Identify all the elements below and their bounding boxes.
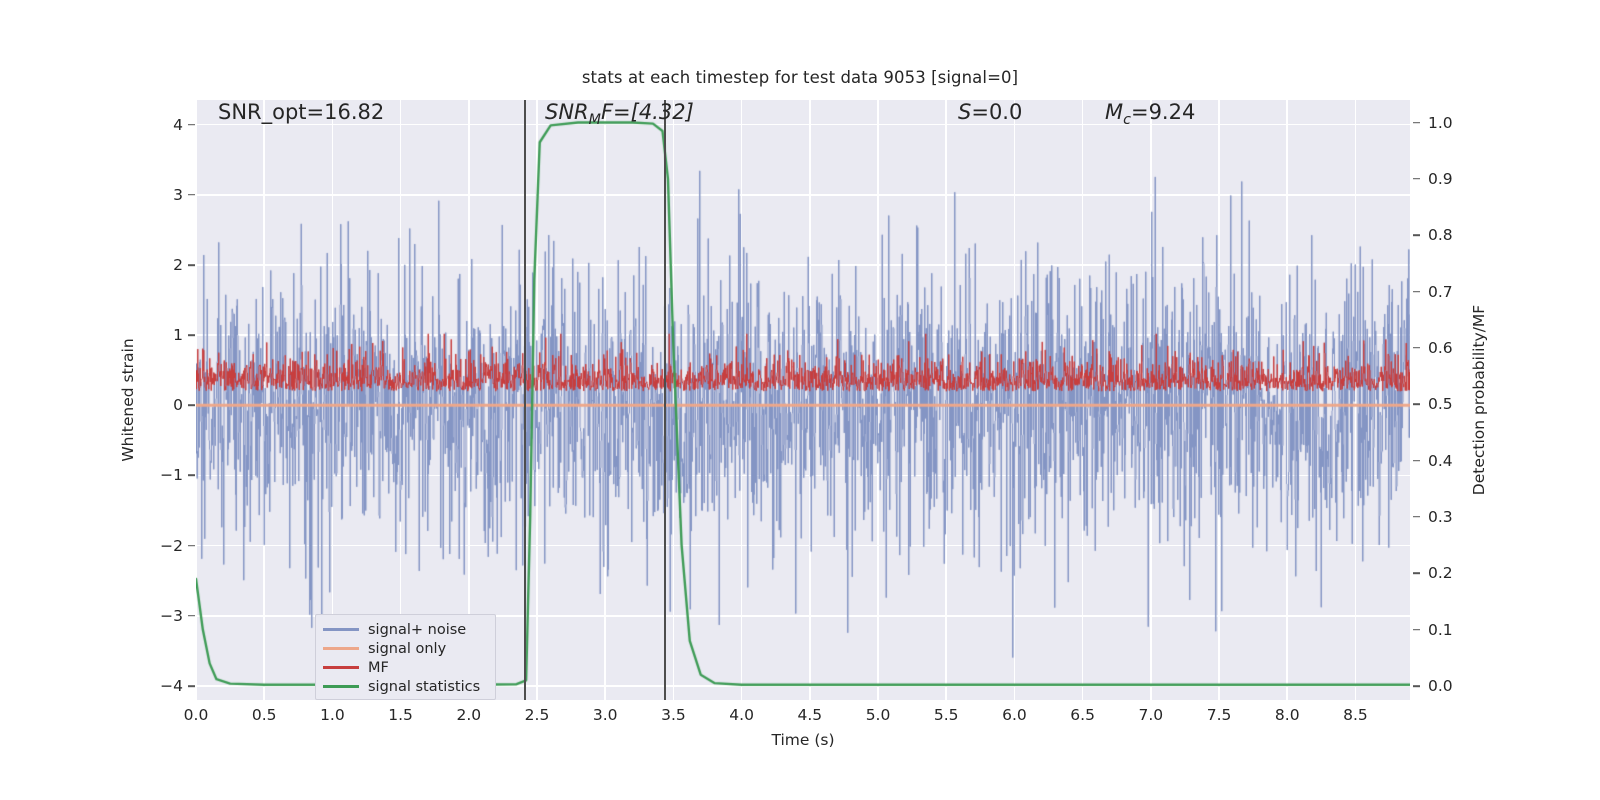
legend-item-label: signal only xyxy=(368,641,446,657)
y-axis-tick-label-right: 0.8 xyxy=(1428,226,1453,244)
y-axis-tick-label-right: 0.1 xyxy=(1428,621,1453,639)
legend-item-label: signal+ noise xyxy=(368,622,466,638)
y-axis-tick-mark-right xyxy=(1413,291,1420,293)
legend-swatch xyxy=(323,628,359,631)
x-axis-tick-label: 7.5 xyxy=(1207,706,1232,724)
y-axis-tick-mark-left xyxy=(188,124,195,126)
y-axis-tick-label-left: −1 xyxy=(160,466,183,484)
y-axis-tick-label-left: 0 xyxy=(173,396,183,414)
x-axis-tick-label: 2.0 xyxy=(456,706,481,724)
y-axis-tick-label-left: 3 xyxy=(173,186,183,204)
x-axis-tick-label: 5.5 xyxy=(934,706,959,724)
y-axis-tick-label-right: 0.7 xyxy=(1428,283,1453,301)
y-axis-tick-mark-left xyxy=(188,475,195,477)
annotation-mc-value: =9.24 xyxy=(1131,100,1195,124)
y-axis-tick-mark-right xyxy=(1413,178,1420,180)
y-axis-label-right: Detection probability/MF xyxy=(1470,305,1488,495)
y-axis-tick-label-left: 2 xyxy=(173,256,183,274)
y-axis-tick-label-right: 0.5 xyxy=(1428,395,1453,413)
x-axis-tick-label: 3.0 xyxy=(593,706,618,724)
y-axis-tick-mark-left xyxy=(188,264,195,266)
x-axis-tick-label: 7.0 xyxy=(1139,706,1164,724)
y-axis-tick-mark-right xyxy=(1413,572,1420,574)
legend-swatch xyxy=(323,685,359,688)
x-axis-tick-label: 0.5 xyxy=(252,706,277,724)
y-axis-tick-mark-left xyxy=(188,685,195,687)
legend-item[interactable]: MF xyxy=(323,658,487,677)
y-axis-tick-mark-right xyxy=(1413,347,1420,349)
y-axis-tick-label-left: −3 xyxy=(160,607,183,625)
legend-item[interactable]: signal statistics xyxy=(323,677,487,696)
y-axis-tick-label-right: 1.0 xyxy=(1428,114,1453,132)
vertical-marker-layer xyxy=(196,100,1410,700)
y-axis-tick-mark-right xyxy=(1413,460,1420,462)
legend-item-label: MF xyxy=(368,660,389,676)
y-axis-tick-mark-left xyxy=(188,404,195,406)
vertical-marker-line xyxy=(524,100,526,700)
figure: stats at each timestep for test data 905… xyxy=(0,0,1600,800)
y-axis-tick-label-right: 0.9 xyxy=(1428,170,1453,188)
annotation-mc-symbol: M xyxy=(1105,100,1123,124)
annotation-snr-opt: SNR_opt=16.82 xyxy=(218,100,384,124)
y-axis-tick-label-right: 0.2 xyxy=(1428,564,1453,582)
y-axis-tick-label-right: 0.6 xyxy=(1428,339,1453,357)
x-axis-tick-label: 5.0 xyxy=(866,706,891,724)
y-axis-tick-label-right: 0.0 xyxy=(1428,677,1453,695)
annotation-snr-mf-prefix: SNR xyxy=(545,100,589,124)
y-axis-tick-label-left: −4 xyxy=(160,677,183,695)
legend-item-label: signal statistics xyxy=(368,679,480,695)
y-axis-tick-mark-left xyxy=(188,615,195,617)
y-axis-tick-label-left: 4 xyxy=(173,116,183,134)
x-axis-tick-label: 8.0 xyxy=(1275,706,1300,724)
x-axis-tick-label: 4.0 xyxy=(729,706,754,724)
y-axis-tick-label-right: 0.4 xyxy=(1428,452,1453,470)
annotation-snr-mf: SNRMF=[4.32] xyxy=(545,100,694,128)
y-axis-tick-mark-left xyxy=(188,545,195,547)
y-axis-tick-mark-right xyxy=(1413,122,1420,124)
x-axis-tick-label: 8.5 xyxy=(1343,706,1368,724)
legend-item[interactable]: signal+ noise xyxy=(323,620,487,639)
y-axis-tick-mark-left xyxy=(188,334,195,336)
x-axis-tick-label: 3.5 xyxy=(661,706,686,724)
annotation-mc-sub: c xyxy=(1123,112,1131,128)
annotation-s-value: =0.0 xyxy=(971,100,1022,124)
x-axis-label: Time (s) xyxy=(771,731,834,749)
x-axis-tick-label: 6.5 xyxy=(1070,706,1095,724)
y-axis-label-left: Whitened strain xyxy=(119,338,137,461)
annotation-snr-mf-suffix: F=[4.32] xyxy=(601,100,694,124)
y-axis-tick-mark-right xyxy=(1413,516,1420,518)
x-axis-tick-label: 2.5 xyxy=(525,706,550,724)
x-axis-tick-label: 1.0 xyxy=(320,706,345,724)
legend[interactable]: signal+ noisesignal onlyMFsignal statist… xyxy=(315,614,496,700)
vertical-marker-line xyxy=(664,100,666,700)
y-axis-tick-mark-right xyxy=(1413,685,1420,687)
y-axis-tick-mark-right xyxy=(1413,629,1420,631)
y-axis-tick-label-left: −2 xyxy=(160,537,183,555)
page-title: stats at each timestep for test data 905… xyxy=(0,68,1600,87)
x-axis-tick-label: 1.5 xyxy=(388,706,413,724)
annotation-s: S=0.0 xyxy=(958,100,1022,124)
legend-item[interactable]: signal only xyxy=(323,639,487,658)
annotation-s-symbol: S xyxy=(958,100,971,124)
annotation-mc: Mc=9.24 xyxy=(1105,100,1195,128)
x-axis-tick-label: 0.0 xyxy=(184,706,209,724)
y-axis-tick-mark-right xyxy=(1413,234,1420,236)
x-axis-tick-label: 4.5 xyxy=(797,706,822,724)
plot-area[interactable] xyxy=(196,100,1410,700)
y-axis-tick-mark-left xyxy=(188,194,195,196)
legend-swatch xyxy=(323,666,359,669)
y-axis-tick-label-right: 0.3 xyxy=(1428,508,1453,526)
x-axis-tick-label: 6.0 xyxy=(1002,706,1027,724)
legend-swatch xyxy=(323,647,359,650)
y-axis-tick-mark-right xyxy=(1413,403,1420,405)
y-axis-tick-label-left: 1 xyxy=(173,326,183,344)
annotation-snr-mf-sub: M xyxy=(589,112,601,128)
